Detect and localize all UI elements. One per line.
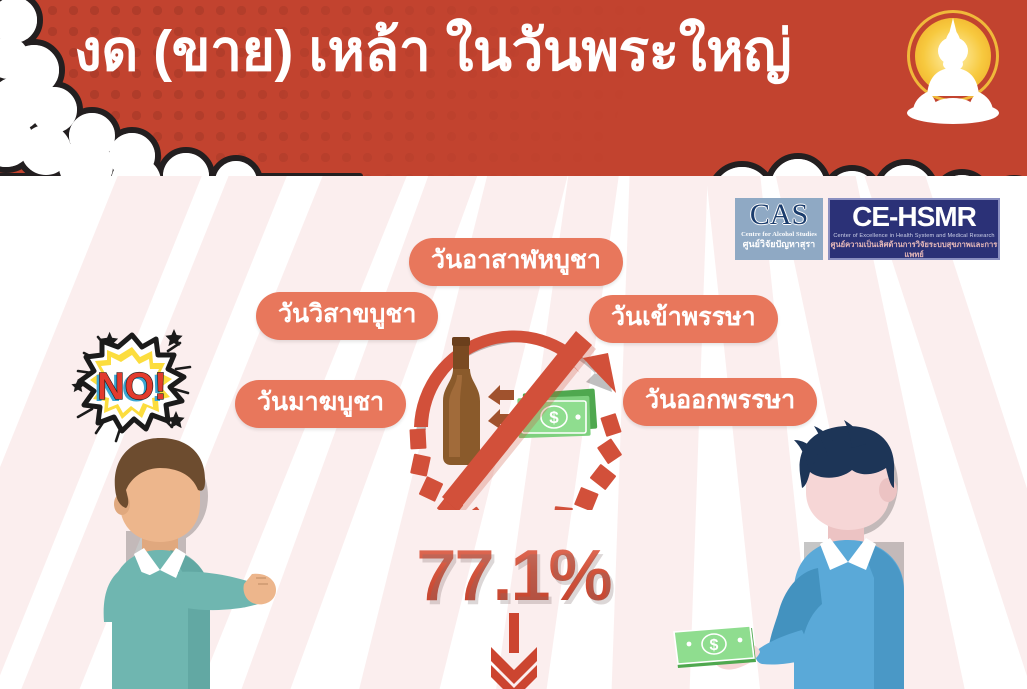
organization-logos: CAS Centre for Alcohol Studies ศูนย์วิจั…: [735, 198, 1000, 260]
no-text: NO! NO!: [94, 366, 167, 410]
infographic-poster: งด (ขาย) เหล้า ในวันพระใหญ่: [0, 0, 1027, 689]
cehsmr-subtitle-en: Center of Excellence in Health System an…: [830, 232, 998, 240]
holiday-pill-asalha[interactable]: วันอาสาฬหบูชา: [409, 238, 623, 286]
holiday-pill-khao-phansa[interactable]: วันเข้าพรรษา: [589, 295, 778, 343]
holiday-pill-visakha[interactable]: วันวิสาขบูชา: [256, 292, 438, 340]
svg-text:$: $: [710, 637, 719, 654]
cas-logo[interactable]: CAS Centre for Alcohol Studies ศูนย์วิจั…: [735, 198, 823, 260]
statistic-value: 77.1%: [416, 540, 610, 612]
buddha-silhouette-icon: [897, 4, 1009, 136]
page-title: งด (ขาย) เหล้า ในวันพระใหญ่: [60, 22, 920, 82]
no-callout-burst: NO! NO!: [62, 325, 202, 445]
ear: [879, 478, 897, 502]
holiday-pill-makha[interactable]: วันมาฆบูชา: [235, 380, 406, 428]
svg-text:$: $: [549, 408, 559, 427]
cehsmr-subtitle-th: ศูนย์ความเป็นเลิศด้านการวิจัยระบบสุขภาพแ…: [830, 240, 998, 260]
buddha-emblem: [897, 4, 1009, 136]
cehsmr-acronym: CE-HSMR: [830, 202, 998, 232]
statistic-block: 77.1%: [0, 540, 1027, 612]
money-bill-icon: $: [674, 626, 756, 668]
cas-subtitle-th: ศูนย์วิจัยปัญหาสุรา: [735, 239, 823, 250]
cehsmr-logo[interactable]: CE-HSMR Center of Excellence in Health S…: [828, 198, 1000, 260]
down-arrow-icon: [487, 613, 541, 689]
svg-text:NO!: NO!: [97, 366, 167, 408]
cas-subtitle-en: Centre for Alcohol Studies: [735, 231, 823, 239]
cas-acronym: CAS: [735, 199, 823, 231]
header-banner: งด (ขาย) เหล้า ในวันพระใหญ่: [0, 0, 1027, 176]
holiday-pill-ok-phansa[interactable]: วันออกพรรษา: [623, 378, 817, 426]
